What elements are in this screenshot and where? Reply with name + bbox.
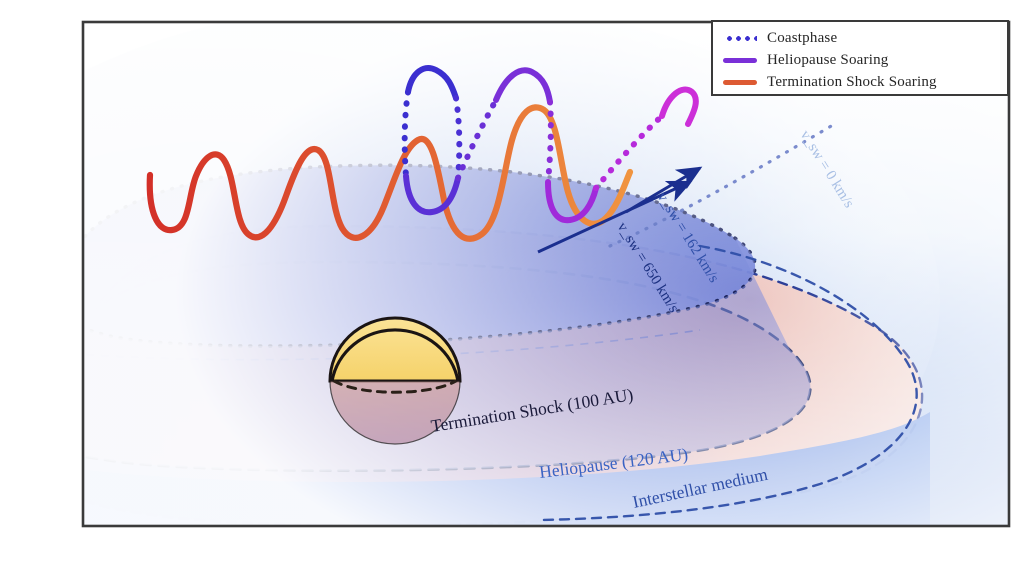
legend-label-heliopause-soaring: Heliopause Soaring (767, 52, 889, 68)
figure-canvas: Termination Shock (100 AU) Heliopause (1… (0, 0, 1024, 577)
legend: Coastphase Heliopause Soaring Terminatio… (711, 20, 1009, 96)
right-white-fade (83, 22, 1009, 526)
solid-line-icon (723, 58, 757, 63)
legend-item-termination-shock-soaring[interactable]: Termination Shock Soaring (723, 71, 999, 93)
legend-item-coastphase[interactable]: Coastphase (723, 27, 999, 49)
legend-label-termination-shock-soaring: Termination Shock Soaring (767, 74, 937, 90)
legend-label-coastphase: Coastphase (767, 30, 837, 46)
legend-swatch-coastphase-icon (723, 31, 757, 45)
solid-line-icon (723, 80, 757, 85)
legend-item-heliopause-soaring[interactable]: Heliopause Soaring (723, 49, 999, 71)
dotted-line-icon (723, 36, 757, 41)
legend-swatch-heliopause-icon (723, 53, 757, 67)
legend-swatch-termination-icon (723, 75, 757, 89)
